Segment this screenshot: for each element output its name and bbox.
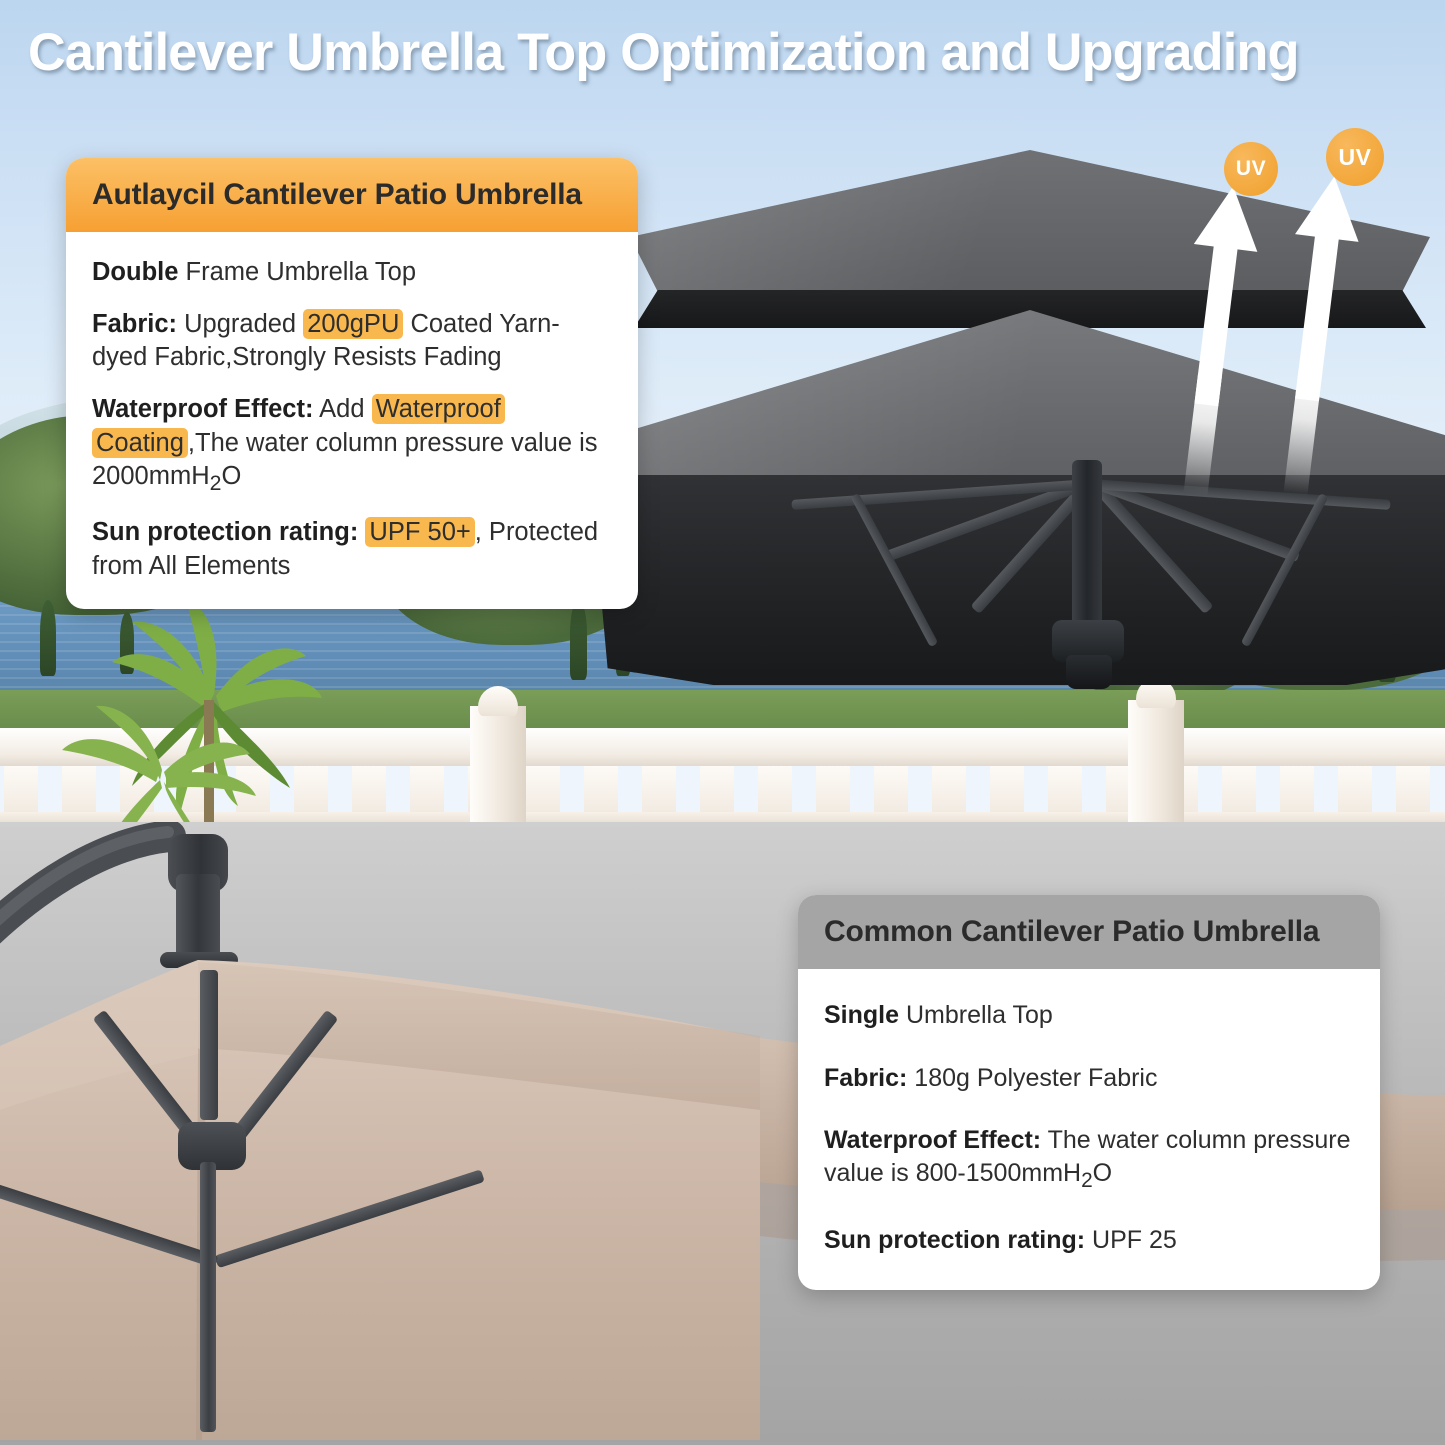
spec-value: UPF 25 [1085,1226,1177,1254]
spec-line-fabric: Fabric: Upgraded 200gPU Coated Yarn-dyed… [92,308,612,374]
spec-label: Single [824,1001,899,1029]
spec-label: Sun protection rating: [824,1226,1085,1254]
common-spec-card: Common Cantilever Patio Umbrella Single … [798,895,1380,1290]
tropical-plant-low [10,700,330,822]
umbrella-hub-cap [1066,655,1112,689]
spec-value: Frame Umbrella Top [178,258,416,286]
upper-post [176,874,220,964]
spec-line-frame: Double Frame Umbrella Top [92,256,612,289]
spec-label: Double [92,258,178,286]
uv-deflection-arrows [1150,175,1410,505]
spec-value-tail: O [1093,1159,1112,1187]
umbrella-center-pole [200,1162,216,1432]
spec-value: 180g Polyester Fabric [907,1064,1157,1092]
common-card-header: Common Cantilever Patio Umbrella [798,895,1380,969]
spec-line-waterproof: Waterproof Effect: Add Waterproof Coatin… [92,393,612,497]
spec-label: Waterproof Effect: [92,395,313,423]
spec-label: Fabric: [92,310,177,338]
spec-label: Sun protection rating: [92,518,358,546]
spec-line-frame: Single Umbrella Top [824,999,1354,1032]
cypress-tree [570,600,587,680]
premium-card-body: Double Frame Umbrella Top Fabric: Upgrad… [66,232,638,609]
spec-highlight: UPF 50+ [365,517,474,547]
spec-line-fabric: Fabric: 180g Polyester Fabric [824,1062,1354,1095]
balustrade-pillar [470,706,526,822]
umbrella-rib [200,970,218,1120]
spec-value-pre: Add [313,395,371,423]
spec-subscript: 2 [1081,1169,1093,1192]
spec-label: Fabric: [824,1064,907,1092]
infographic-stage: UV UV [0,0,1445,1445]
spec-value-tail: O [221,462,241,490]
title-band: Cantilever Umbrella Top Optimization and… [0,0,1445,105]
uv-badge-label: UV [1339,144,1372,171]
spec-line-upf: Sun protection rating: UPF 50+, Protecte… [92,516,612,582]
premium-card-header: Autlaycil Cantilever Patio Umbrella [66,158,638,232]
uv-badge-icon: UV [1224,142,1278,196]
common-card-body: Single Umbrella Top Fabric: 180g Polyest… [798,969,1380,1290]
spec-highlight: 200gPU [303,309,403,339]
spec-value-pre: Upgraded [177,310,303,338]
spec-value: Umbrella Top [899,1001,1053,1029]
spec-subscript: 2 [210,471,222,495]
balustrade-pillar [1128,700,1184,822]
spec-line-upf: Sun protection rating: UPF 25 [824,1224,1354,1257]
uv-badge-icon: UV [1326,128,1384,186]
spec-label: Waterproof Effect: [824,1126,1041,1154]
uv-badge-label: UV [1236,157,1266,181]
page-title: Cantilever Umbrella Top Optimization and… [28,22,1407,83]
spec-line-waterproof: Waterproof Effect: The water column pres… [824,1124,1354,1194]
premium-spec-card: Autlaycil Cantilever Patio Umbrella Doub… [66,158,638,609]
